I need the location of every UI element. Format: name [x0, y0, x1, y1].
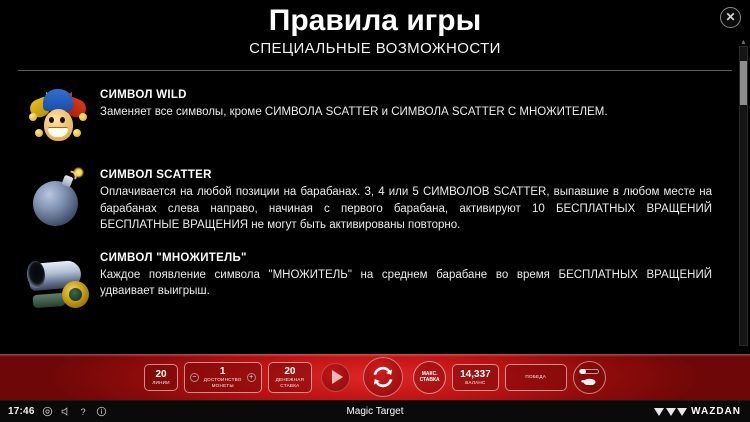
rule-item-wild: СИМВОЛ WILD Заменяет все символы, кроме … — [22, 85, 728, 151]
page-subtitle: СПЕЦИАЛЬНЫЕ ВОЗМОЖНОСТИ — [0, 39, 750, 59]
status-left-group: 17:46 ? — [0, 406, 107, 417]
bet-value: 20 — [284, 366, 295, 377]
clock: 17:46 — [8, 406, 35, 417]
coin-label-2: МОНЕТЫ — [212, 383, 234, 389]
page-header: Правила игры СПЕЦИАЛЬНЫЕ ВОЗМОЖНОСТИ — [0, 0, 750, 59]
lines-label: ЛИНИИ — [152, 380, 170, 386]
turtle-icon — [581, 376, 598, 385]
win-display[interactable]: ПОБЕДА — [505, 364, 567, 391]
wazdan-mark-icon — [654, 408, 687, 416]
cannon-multiplier-icon — [22, 248, 94, 314]
sound-icon[interactable] — [60, 406, 71, 417]
rule-item-scatter: СИМВОЛ SCATTER Оплачивается на любой поз… — [22, 165, 728, 234]
coin-value: 1 — [220, 366, 226, 377]
game-control-bar: 20 ЛИНИИ − 1 ДОСТОИНСТВО МОНЕТЫ + 20 ДЕН… — [0, 354, 750, 400]
bet-button[interactable]: 20 ДЕНЕЖНАЯ СТАВКА — [268, 362, 313, 393]
status-bar: 17:46 ? Magic Target WAZDAN — [0, 400, 750, 422]
play-button[interactable] — [321, 363, 350, 392]
max-bet-label-2: СТАВКА — [420, 377, 440, 384]
joker-wild-icon — [22, 85, 94, 151]
brand-logo: WAZDAN — [654, 406, 750, 417]
coin-plus-button[interactable]: + — [247, 373, 256, 382]
spin-button[interactable] — [363, 357, 403, 397]
balance-value: 14,337 — [460, 369, 491, 380]
scrollbar[interactable] — [739, 46, 748, 346]
rule-title: СИМВОЛ WILD — [100, 89, 728, 101]
max-bet-button[interactable]: МАКС. СТАВКА — [413, 361, 446, 394]
help-icon[interactable]: ? — [78, 406, 89, 417]
game-name: Magic Target — [0, 406, 750, 417]
bet-label-2: СТАВКА — [280, 383, 299, 389]
refresh-icon — [371, 365, 395, 389]
rule-text: Оплачивается на любой позиции на барабан… — [100, 184, 728, 234]
rule-title: СИМВОЛ "МНОЖИТЕЛЬ" — [100, 252, 728, 264]
win-label: ПОБЕДА — [525, 374, 546, 380]
balance-label: БАЛАНС — [465, 380, 485, 386]
rule-item-multiplier: СИМВОЛ "МНОЖИТЕЛЬ" Каждое появление симв… — [22, 248, 728, 314]
bomb-scatter-icon — [22, 165, 94, 231]
balance-display[interactable]: 14,337 БАЛАНС — [452, 364, 499, 391]
speed-slider[interactable] — [579, 369, 599, 374]
info-icon[interactable] — [96, 406, 107, 417]
rules-list: СИМВОЛ WILD Заменяет все символы, кроме … — [0, 71, 750, 314]
speed-slider-knob[interactable] — [580, 369, 586, 374]
close-icon[interactable]: ✕ — [720, 7, 741, 28]
game-speed-button[interactable] — [573, 361, 606, 394]
scrollbar-thumb[interactable] — [740, 61, 747, 105]
lines-button[interactable]: 20 ЛИНИИ — [144, 364, 178, 391]
gear-icon[interactable] — [42, 406, 53, 417]
rule-title: СИМВОЛ SCATTER — [100, 169, 728, 181]
rule-text: Заменяет все символы, кроме СИМВОЛА SCAT… — [100, 104, 728, 121]
coin-minus-button[interactable]: − — [190, 373, 199, 382]
rule-text: Каждое появление символа "МНОЖИТЕЛЬ" на … — [100, 267, 728, 300]
play-icon — [332, 370, 343, 384]
brand-name: WAZDAN — [691, 406, 741, 417]
coin-denomination-stepper[interactable]: − 1 ДОСТОИНСТВО МОНЕТЫ + — [184, 362, 262, 393]
page-title: Правила игры — [0, 4, 750, 38]
game-rules-panel: ✕ Правила игры СПЕЦИАЛЬНЫЕ ВОЗМОЖНОСТИ С… — [0, 0, 750, 400]
lines-value: 20 — [155, 369, 166, 380]
